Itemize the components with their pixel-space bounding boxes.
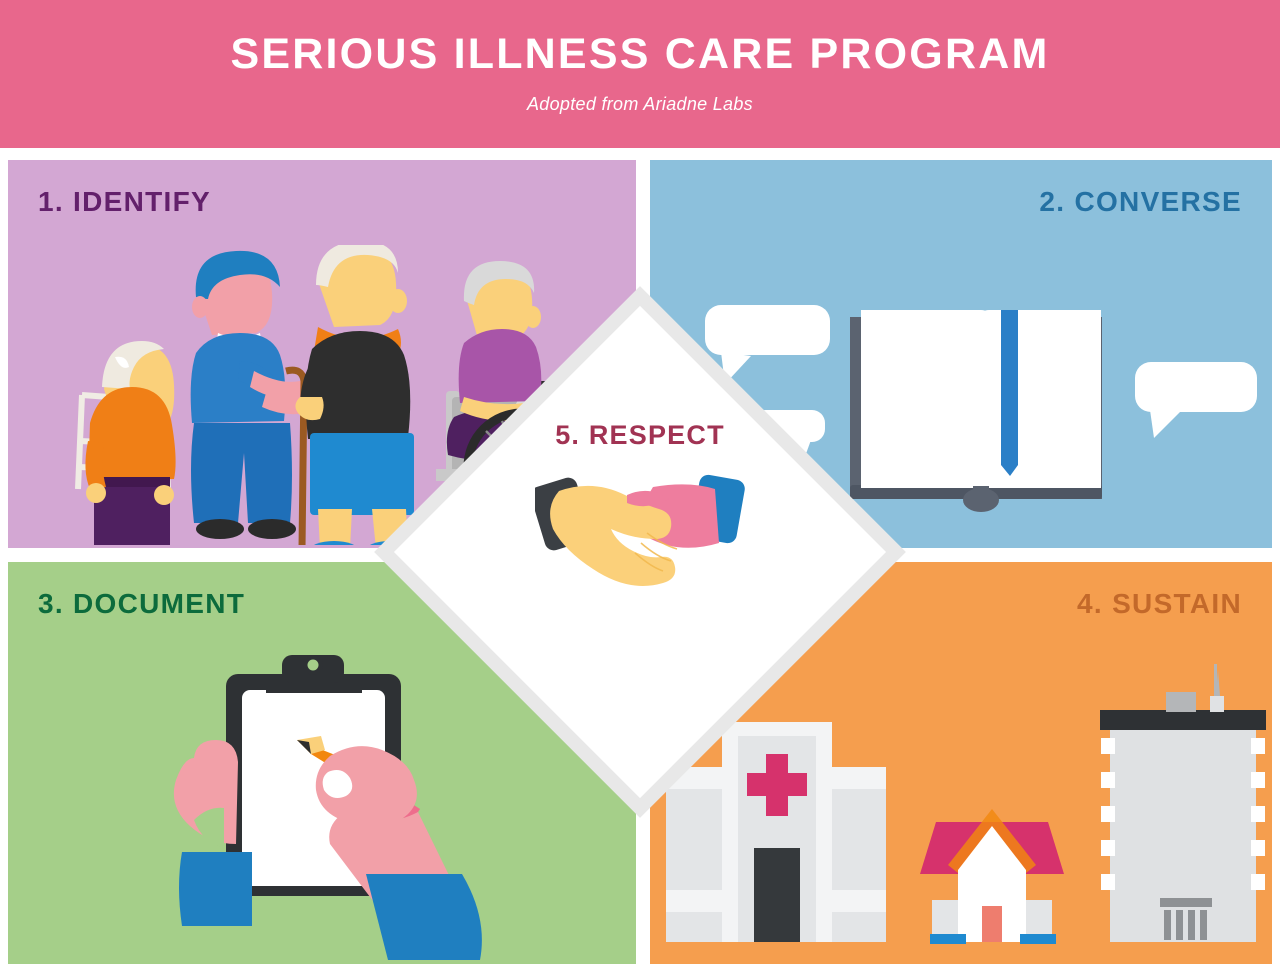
header-banner: SERIOUS ILLNESS CARE PROGRAM Adopted fro… [0, 0, 1280, 148]
apartment-building-icon [1100, 664, 1266, 942]
open-book-icon [850, 310, 1102, 512]
handshake-illustration [535, 473, 745, 588]
figure-elderly-walker [85, 341, 176, 545]
quadrant-document-label: 3. DOCUMENT [38, 588, 245, 620]
quadrant-identify-label: 1. IDENTIFY [38, 186, 211, 218]
center-label: 5. RESPECT [555, 420, 725, 451]
house-icon [920, 809, 1064, 944]
hand-right-icon [316, 746, 482, 960]
figure-elderly-cane [295, 245, 415, 545]
hands-writing-on-clipboard-illustration [170, 652, 490, 964]
center-diamond-content: 5. RESPECT [466, 420, 814, 720]
quadrant-converse-label: 2. CONVERSE [1039, 186, 1242, 218]
page-title: SERIOUS ILLNESS CARE PROGRAM [231, 33, 1050, 76]
infographic-page: SERIOUS ILLNESS CARE PROGRAM Adopted fro… [0, 0, 1280, 972]
speech-bubble-right-icon [1135, 362, 1257, 438]
quadrant-sustain-label: 4. SUSTAIN [1077, 588, 1242, 620]
page-subtitle: Adopted from Ariadne Labs [527, 94, 753, 115]
